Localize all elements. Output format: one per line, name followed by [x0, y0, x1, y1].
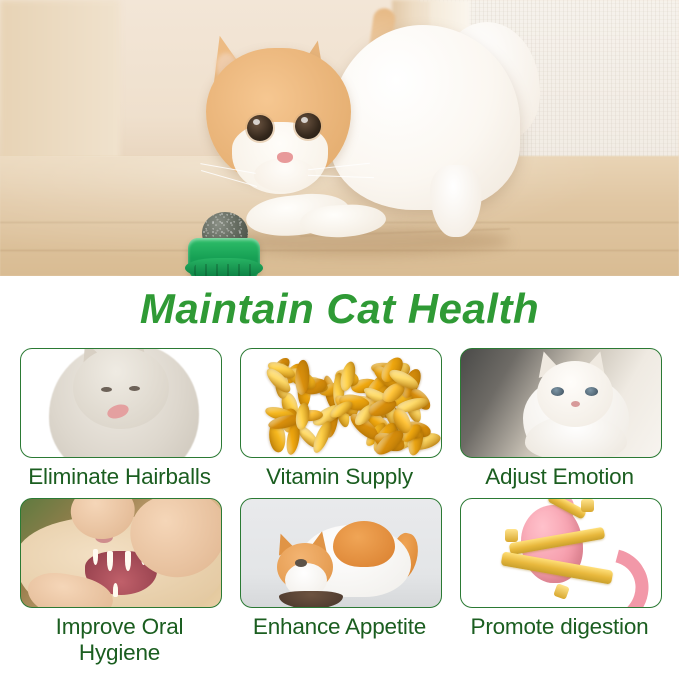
benefits-grid: Eliminate Hairballs Vitamin Supply Adjus…	[0, 348, 679, 674]
kitten-right-eye	[295, 113, 321, 139]
golden-fish-oil-capsules-icon	[240, 348, 442, 458]
white-ragdoll-cat-icon	[460, 348, 662, 458]
kitten-eating-from-bowl-icon	[240, 498, 442, 608]
hero-image	[0, 0, 679, 276]
kitten-muzzle	[254, 158, 316, 192]
benefit-label: Promote digestion	[460, 614, 660, 640]
benefit-label: Enhance Appetite	[240, 614, 440, 640]
benefits-row-top: Eliminate Hairballs Vitamin Supply Adjus…	[0, 348, 679, 490]
benefit-label: Improve Oral Hygiene	[20, 614, 220, 666]
benefit-card-adjust-emotion: Adjust Emotion	[460, 348, 660, 490]
grey-persian-cat-grooming-icon	[20, 348, 222, 458]
benefit-card-improve-oral-hygiene: Improve Oral Hygiene	[20, 498, 220, 666]
toy-base-ridges	[194, 264, 254, 276]
benefit-card-enhance-appetite: Enhance Appetite	[240, 498, 440, 666]
benefit-label: Adjust Emotion	[460, 464, 660, 490]
kitten-nose	[277, 152, 293, 163]
kitten-left-eye	[247, 115, 273, 141]
cat-teeth-examination-icon	[20, 498, 222, 608]
benefit-card-promote-digestion: Promote digestion	[460, 498, 660, 666]
capsule-pile	[241, 349, 441, 457]
benefits-row-bottom: Improve Oral Hygiene Enhance Appetite	[0, 498, 679, 666]
page-title: Maintain Cat Health	[0, 279, 679, 339]
benefit-label: Vitamin Supply	[240, 464, 440, 490]
benefit-label: Eliminate Hairballs	[20, 464, 220, 490]
benefit-card-vitamin-supply: Vitamin Supply	[240, 348, 440, 490]
stomach-with-ribbon-icon	[460, 498, 662, 608]
benefit-card-eliminate-hairballs: Eliminate Hairballs	[20, 348, 220, 490]
